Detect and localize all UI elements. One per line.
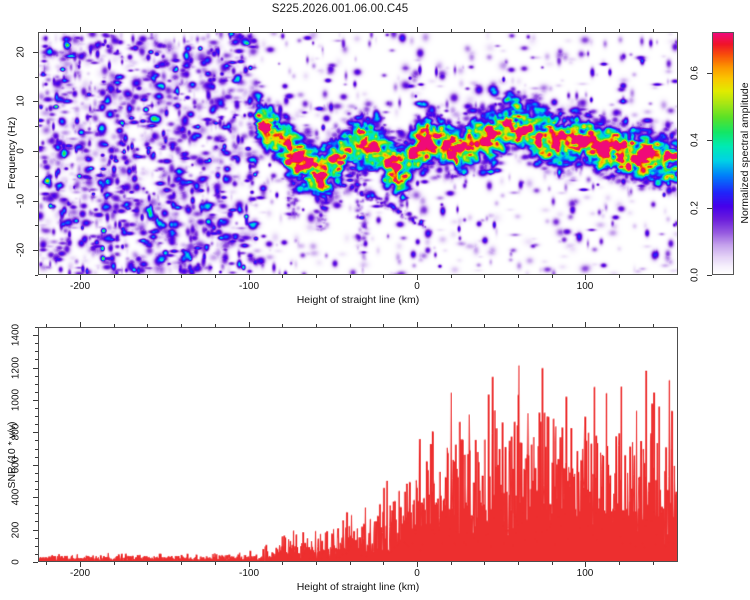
colorbar-gradient [713, 33, 733, 274]
y-minor-tick [35, 225, 38, 226]
colorbar-tick [707, 140, 712, 141]
x-minor-tick [46, 275, 47, 278]
x-minor-tick [282, 275, 283, 278]
y-tick-label: 1000 [11, 389, 22, 411]
x-minor-tick [552, 29, 553, 32]
figure-title: S225.2026.001.06.00.C45 [0, 3, 680, 15]
x-major-tick-top [80, 322, 81, 327]
colorbar-tick [707, 275, 712, 276]
y-major-tick [33, 101, 38, 102]
x-tick-label: -100 [239, 281, 259, 292]
x-minor-tick [653, 562, 654, 565]
x-minor-tick [316, 275, 317, 278]
y-tick-label: 1400 [11, 324, 22, 346]
x-major-tick-top [585, 27, 586, 32]
x-minor-tick [484, 275, 485, 278]
x-minor-tick [451, 562, 452, 565]
y-minor-tick [35, 424, 38, 425]
x-minor-tick [114, 562, 115, 565]
x-minor-tick [282, 29, 283, 32]
x-minor-tick [451, 29, 452, 32]
y-minor-tick [35, 376, 38, 377]
x-tick-label: -200 [70, 281, 90, 292]
y-minor-tick [35, 416, 38, 417]
x-minor-tick [552, 275, 553, 278]
x-major-tick-top [249, 322, 250, 327]
x-major-tick [249, 275, 250, 280]
snr-xaxis-title: Height of straight line (km) [297, 581, 420, 593]
y-minor-tick [35, 473, 38, 474]
x-major-tick [585, 562, 586, 567]
x-minor-tick [181, 324, 182, 327]
x-minor-tick [215, 562, 216, 565]
colorbar [712, 32, 734, 275]
x-major-tick [417, 562, 418, 567]
y-tick-label: 200 [11, 522, 22, 539]
y-major-tick [33, 400, 38, 401]
snr-yaxis-title: SNR (10 * v/v) [6, 421, 18, 488]
y-minor-tick [35, 327, 38, 328]
y-major-tick [33, 497, 38, 498]
figure-root: S225.2026.001.06.00.C45 -200-1000100-20-… [0, 0, 750, 600]
x-minor-tick [619, 324, 620, 327]
x-minor-tick [147, 324, 148, 327]
x-minor-tick [215, 275, 216, 278]
x-major-tick-top [417, 322, 418, 327]
y-minor-tick [35, 77, 38, 78]
y-minor-tick [35, 546, 38, 547]
y-major-tick [33, 335, 38, 336]
x-tick-label: 100 [577, 568, 594, 579]
x-minor-tick [316, 562, 317, 565]
x-major-tick [417, 275, 418, 280]
x-minor-tick [518, 562, 519, 565]
y-major-tick [33, 368, 38, 369]
colorbar-tick [707, 73, 712, 74]
y-tick-label: 10 [16, 95, 27, 106]
y-major-tick [33, 250, 38, 251]
x-minor-tick [619, 562, 620, 565]
y-minor-tick [35, 521, 38, 522]
x-minor-tick [46, 29, 47, 32]
spectrogram-xaxis-title: Height of straight line (km) [297, 294, 420, 306]
x-minor-tick [653, 29, 654, 32]
y-tick-label: 0 [11, 559, 22, 565]
y-minor-tick [35, 554, 38, 555]
y-minor-tick [35, 513, 38, 514]
x-minor-tick [316, 29, 317, 32]
y-minor-tick [35, 440, 38, 441]
x-tick-label: -200 [70, 568, 90, 579]
x-major-tick-top [249, 27, 250, 32]
x-minor-tick [484, 29, 485, 32]
spectrogram-yaxis-title: Frequency (Hz) [6, 117, 18, 189]
y-minor-tick [35, 408, 38, 409]
x-minor-tick [484, 562, 485, 565]
x-minor-tick [518, 29, 519, 32]
x-minor-tick [653, 324, 654, 327]
x-minor-tick [383, 275, 384, 278]
x-minor-tick [619, 29, 620, 32]
colorbar-tick-label: 0.6 [690, 66, 701, 80]
spectrogram-panel[interactable] [38, 32, 678, 275]
y-minor-tick [35, 126, 38, 127]
y-major-tick [33, 530, 38, 531]
y-tick-label: -10 [16, 194, 27, 208]
y-minor-tick [35, 392, 38, 393]
x-minor-tick [147, 275, 148, 278]
y-major-tick [33, 465, 38, 466]
y-minor-tick [35, 505, 38, 506]
y-major-tick [33, 432, 38, 433]
x-minor-tick [147, 562, 148, 565]
y-minor-tick [35, 343, 38, 344]
colorbar-tick-label: 0.2 [690, 201, 701, 215]
spectrogram-canvas [39, 33, 677, 274]
y-major-tick [33, 52, 38, 53]
y-tick-label: 1200 [11, 357, 22, 379]
x-minor-tick [215, 29, 216, 32]
snr-canvas [39, 328, 677, 561]
colorbar-title: Normalized spectral amplitude [739, 82, 750, 223]
x-minor-tick [350, 29, 351, 32]
y-minor-tick [35, 481, 38, 482]
y-tick-label: -20 [16, 243, 27, 257]
y-minor-tick [35, 449, 38, 450]
y-minor-tick [35, 275, 38, 276]
x-major-tick [80, 562, 81, 567]
x-minor-tick [451, 324, 452, 327]
y-minor-tick [35, 538, 38, 539]
x-minor-tick [653, 275, 654, 278]
x-minor-tick [46, 562, 47, 565]
x-minor-tick [181, 562, 182, 565]
y-minor-tick [35, 489, 38, 490]
x-minor-tick [484, 324, 485, 327]
x-minor-tick [383, 29, 384, 32]
x-minor-tick [114, 324, 115, 327]
x-major-tick-top [585, 322, 586, 327]
x-tick-label: 100 [577, 281, 594, 292]
x-minor-tick [518, 275, 519, 278]
colorbar-tick [707, 208, 712, 209]
x-minor-tick [316, 324, 317, 327]
x-minor-tick [383, 562, 384, 565]
x-major-tick [249, 562, 250, 567]
colorbar-tick-label: 0.0 [690, 268, 701, 282]
y-major-tick [33, 201, 38, 202]
y-minor-tick [35, 351, 38, 352]
x-minor-tick [350, 324, 351, 327]
colorbar-tick-label: 0.4 [690, 133, 701, 147]
x-minor-tick [518, 324, 519, 327]
x-minor-tick [181, 29, 182, 32]
y-minor-tick [35, 359, 38, 360]
x-minor-tick [383, 324, 384, 327]
x-minor-tick [114, 29, 115, 32]
x-major-tick [585, 275, 586, 280]
x-minor-tick [282, 324, 283, 327]
x-minor-tick [181, 275, 182, 278]
x-major-tick-top [417, 27, 418, 32]
x-minor-tick [215, 324, 216, 327]
x-minor-tick [552, 324, 553, 327]
x-minor-tick [552, 562, 553, 565]
x-tick-label: 0 [414, 281, 420, 292]
x-major-tick [80, 275, 81, 280]
y-tick-label: 400 [11, 489, 22, 506]
x-tick-label: 0 [414, 568, 420, 579]
x-minor-tick [350, 275, 351, 278]
y-major-tick [33, 562, 38, 563]
x-minor-tick [451, 275, 452, 278]
snr-panel[interactable] [38, 327, 678, 562]
y-major-tick [33, 151, 38, 152]
x-major-tick-top [80, 27, 81, 32]
x-minor-tick [619, 275, 620, 278]
x-minor-tick [282, 562, 283, 565]
y-minor-tick [35, 176, 38, 177]
x-tick-label: -100 [239, 568, 259, 579]
y-tick-label: 20 [16, 46, 27, 57]
y-minor-tick [35, 457, 38, 458]
y-minor-tick [35, 384, 38, 385]
x-minor-tick [350, 562, 351, 565]
x-minor-tick [46, 324, 47, 327]
x-minor-tick [147, 29, 148, 32]
x-minor-tick [114, 275, 115, 278]
